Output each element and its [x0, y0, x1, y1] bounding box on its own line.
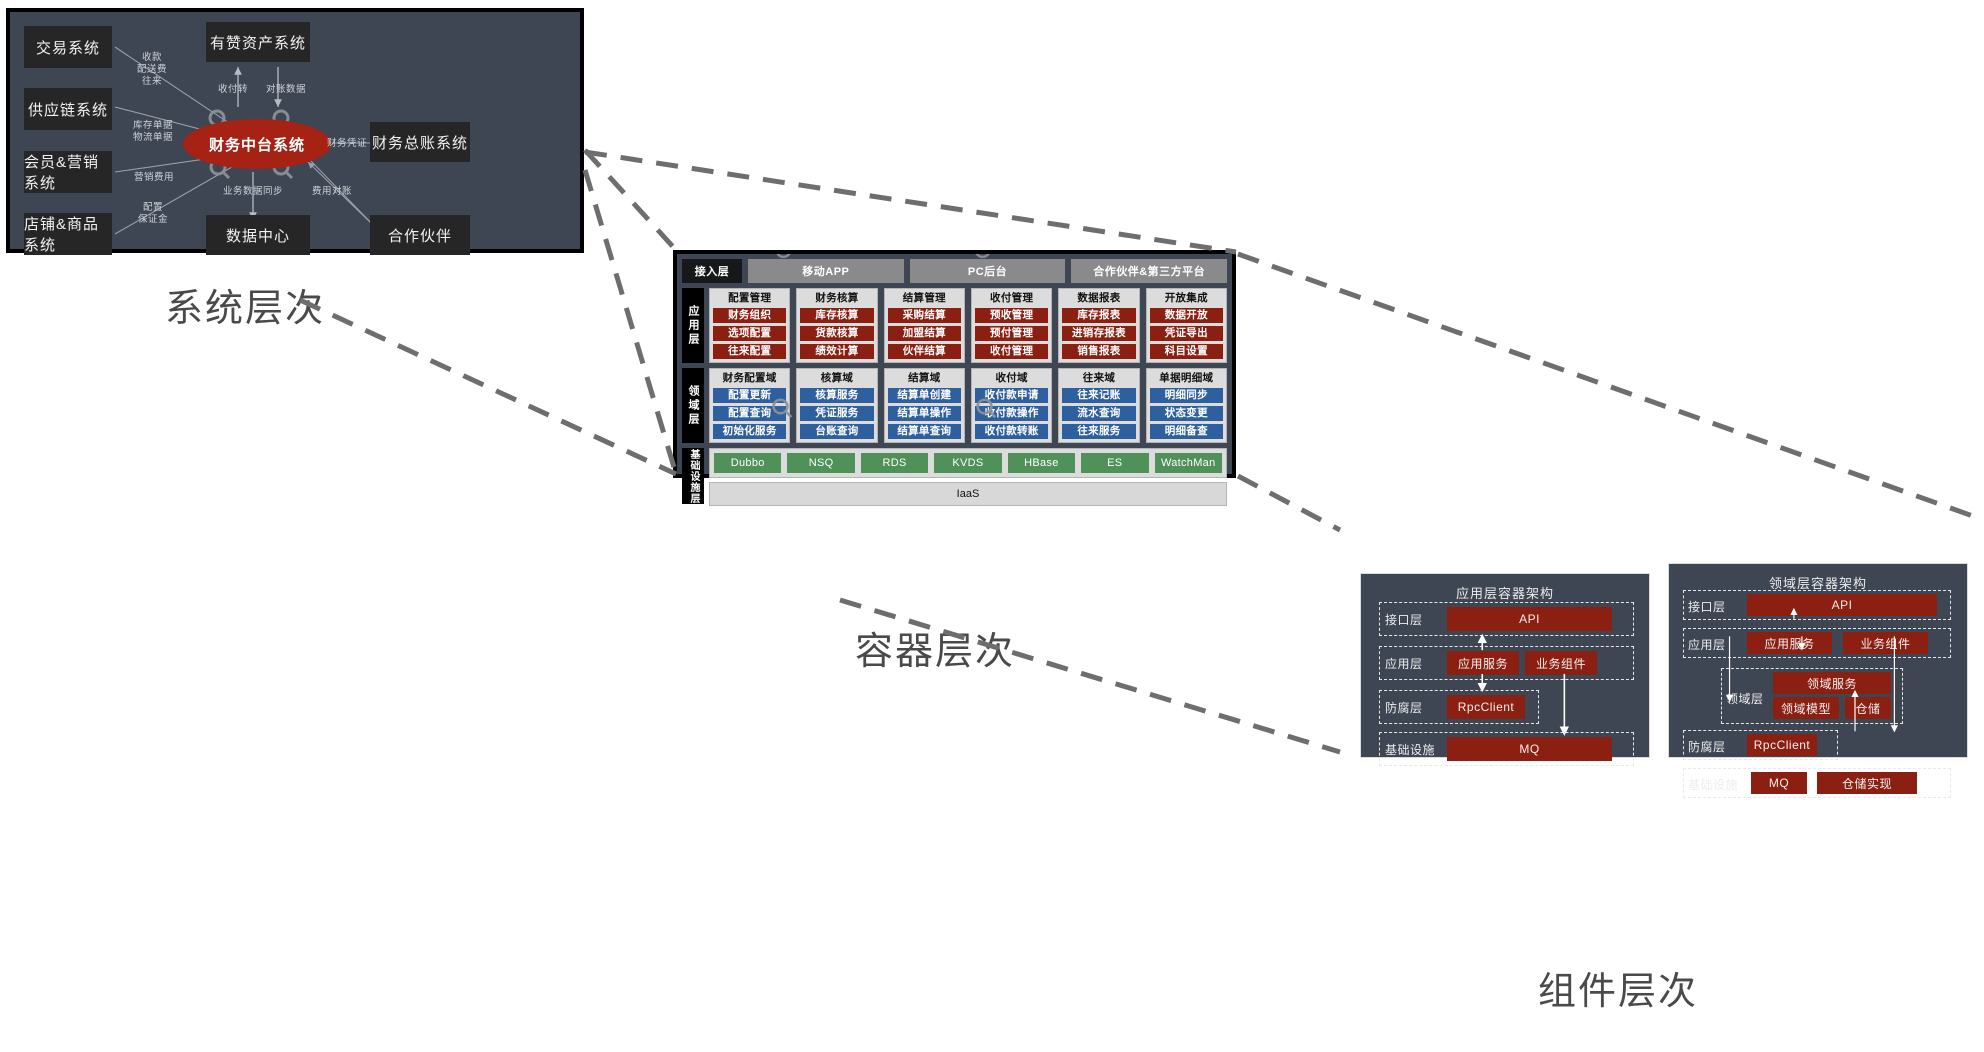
caption-system-level: 系统层次 [165, 277, 325, 332]
chip-item[interactable]: 往来记账 [1062, 388, 1135, 403]
chip-item[interactable]: 库存核算 [800, 308, 873, 323]
chip-item[interactable]: 结算单创建 [888, 388, 961, 403]
edge-label-business-data-sync: 业务数据同步 [213, 186, 293, 198]
chip-item[interactable]: 明细同步 [1150, 388, 1223, 403]
middleware-watchman[interactable]: WatchMan [1155, 453, 1222, 473]
chip-item[interactable]: 往来服务 [1062, 424, 1135, 439]
chip-item[interactable]: 销售报表 [1062, 344, 1135, 359]
chip-item[interactable]: 流水查询 [1062, 406, 1135, 421]
group-finance-config-domain[interactable]: 财务配置域 配置更新 配置查询 初始化服务 [709, 368, 790, 443]
group-title: 结算域 [888, 372, 961, 385]
app-anticorruption-layer-label: 防腐层 [1385, 699, 1423, 716]
access-layer-row: 接入层 移动APP PC后台 合作伙伴&第三方平台 [682, 259, 1227, 283]
middleware-kvds[interactable]: KVDS [934, 453, 1001, 473]
domain-mq-box[interactable]: MQ [1751, 772, 1807, 794]
system-node-partner[interactable]: 合作伙伴 [370, 215, 470, 255]
domain-layer-groups: 财务配置域 配置更新 配置查询 初始化服务 核算域 核算服务 凭证服务 台账查询… [709, 368, 1227, 443]
edge-label-marketing-cost: 营销费用 [119, 172, 189, 184]
system-node-trade[interactable]: 交易系统 [24, 26, 112, 68]
caption-component-level: 组件层次 [1538, 960, 1698, 1015]
app-interface-layer-label: 接口层 [1385, 611, 1423, 628]
group-title: 收付域 [975, 372, 1048, 385]
edge-label-finance-voucher: 财务凭证 [321, 138, 373, 150]
domain-anticorruption-layer-label: 防腐层 [1688, 738, 1726, 755]
domain-repository-box[interactable]: 仓储 [1845, 697, 1891, 719]
system-node-member-marketing[interactable]: 会员&营销系统 [24, 151, 112, 193]
domain-business-component-box[interactable]: 业务组件 [1843, 632, 1928, 654]
domain-infrastructure-layer-label: 基础设施 [1688, 776, 1738, 793]
app-business-component-box[interactable]: 业务组件 [1525, 651, 1597, 675]
group-title: 核算域 [800, 372, 873, 385]
chip-item[interactable]: 台账查询 [800, 424, 873, 439]
group-title: 往来域 [1062, 372, 1135, 385]
app-container-title: 应用层容器架构 [1361, 583, 1649, 602]
chip-item[interactable]: 选项配置 [713, 326, 786, 341]
app-application-layer-label: 应用层 [1385, 655, 1423, 672]
middleware-nsq[interactable]: NSQ [787, 453, 854, 473]
group-settlement-management[interactable]: 结算管理 采购结算 加盟结算 伙伴结算 [884, 288, 965, 363]
domain-model-box[interactable]: 领域模型 [1773, 697, 1839, 719]
chip-item[interactable]: 库存报表 [1062, 308, 1135, 323]
app-application-service-box[interactable]: 应用服务 [1447, 651, 1519, 675]
iaas-band: IaaS [682, 482, 1227, 506]
app-api-box[interactable]: API [1447, 607, 1612, 631]
system-node-youzan-asset[interactable]: 有赞资产系统 [206, 22, 310, 62]
application-layer-band: 应用层 配置管理 财务组织 选项配置 往来配置 财务核算 库存核算 货款核算 绩… [682, 288, 1227, 363]
middleware-rds[interactable]: RDS [861, 453, 928, 473]
system-node-general-ledger[interactable]: 财务总账系统 [370, 122, 470, 162]
system-node-supply-chain[interactable]: 供应链系统 [24, 88, 112, 130]
edge-label-reconcile-data: 对账数据 [258, 84, 314, 96]
app-container-card: 应用层容器架构 接口层 API 应用层 应用服务 业务组件 防腐层 RpcCli… [1360, 573, 1650, 758]
group-receipt-payment-management[interactable]: 收付管理 预收管理 预付管理 收付管理 [971, 288, 1052, 363]
chip-item[interactable]: 收付款转账 [975, 424, 1048, 439]
edge-label-config-deposit: 配置 保证金 [123, 202, 183, 226]
group-title: 数据报表 [1062, 292, 1135, 305]
chip-item[interactable]: 收付管理 [975, 344, 1048, 359]
chip-item[interactable]: 科目设置 [1150, 344, 1223, 359]
access-layer-label: 接入层 [682, 259, 742, 283]
component-level-panel: 应用层容器架构 接口层 API 应用层 应用服务 业务组件 防腐层 RpcCli… [1338, 531, 1984, 758]
domain-interface-layer-label: 接口层 [1688, 598, 1726, 615]
edge-label-receive-pay-transfer: 收付转 [208, 84, 258, 96]
group-config-management[interactable]: 配置管理 财务组织 选项配置 往来配置 [709, 288, 790, 363]
iaas-bar[interactable]: IaaS [709, 482, 1227, 506]
middleware-hbase[interactable]: HBase [1008, 453, 1075, 473]
domain-layer-band: 领域层 财务配置域 配置更新 配置查询 初始化服务 核算域 核算服务 凭证服务 … [682, 368, 1227, 443]
middleware-row: Dubbo NSQ RDS KVDS HBase ES WatchMan [709, 448, 1227, 478]
container-level-panel: 接入层 移动APP PC后台 合作伙伴&第三方平台 应用层 配置管理 财务组织 … [673, 250, 1236, 478]
chip-item[interactable]: 收付款操作 [975, 406, 1048, 421]
middleware-dubbo[interactable]: Dubbo [714, 453, 781, 473]
domain-container-card: 领域层容器架构 接口层 API 应用层 应用服务 业务组件 领域层 领域服务 领… [1668, 563, 1968, 758]
chip-item[interactable]: 结算单操作 [888, 406, 961, 421]
chip-item[interactable]: 凭证导出 [1150, 326, 1223, 341]
domain-core-layer-label: 领域层 [1726, 690, 1764, 707]
chip-item[interactable]: 核算服务 [800, 388, 873, 403]
chip-item[interactable]: 财务组织 [713, 308, 786, 323]
group-title: 配置管理 [713, 292, 786, 305]
edge-label-cost-reconcile: 费用对账 [300, 186, 364, 198]
middleware-es[interactable]: ES [1081, 453, 1148, 473]
system-node-shop-product[interactable]: 店铺&商品系统 [24, 213, 112, 255]
group-financial-accounting[interactable]: 财务核算 库存核算 货款核算 绩效计算 [796, 288, 877, 363]
application-layer-label: 应用层 [682, 288, 704, 363]
access-tab-mobile-app[interactable]: 移动APP [748, 259, 904, 283]
access-tab-partner-thirdparty[interactable]: 合作伙伴&第三方平台 [1071, 259, 1227, 283]
group-title: 财务配置域 [713, 372, 786, 385]
group-title: 财务核算 [800, 292, 873, 305]
group-title: 收付管理 [975, 292, 1048, 305]
chip-item[interactable]: 预收管理 [975, 308, 1048, 323]
group-title: 开放集成 [1150, 292, 1223, 305]
caption-container-level: 容器层次 [855, 620, 1015, 675]
app-rpcclient-box[interactable]: RpcClient [1447, 695, 1525, 719]
system-level-panel: 交易系统 供应链系统 会员&营销系统 店铺&商品系统 有赞资产系统 数据中心 财… [6, 8, 584, 253]
chip-item[interactable]: 数据开放 [1150, 308, 1223, 323]
edge-label-collect-delivery: 收款 配送费 往来 [122, 52, 182, 88]
chip-item[interactable]: 往来配置 [713, 344, 786, 359]
domain-application-layer-label: 应用层 [1688, 636, 1726, 653]
chip-item[interactable]: 加盟结算 [888, 326, 961, 341]
chip-item[interactable]: 绩效计算 [800, 344, 873, 359]
system-node-finance-midplatform[interactable]: 财务中台系统 [183, 119, 331, 169]
domain-application-service-box[interactable]: 应用服务 [1747, 632, 1832, 654]
infrastructure-layer-band: 基础设施层 Dubbo NSQ RDS KVDS HBase ES WatchM… [682, 448, 1227, 478]
chip-item[interactable]: 配置查询 [713, 406, 786, 421]
domain-rpcclient-box[interactable]: RpcClient [1747, 734, 1817, 756]
edge-label-inventory-logistics: 库存单据 物流单据 [113, 120, 193, 144]
chip-item[interactable]: 明细备查 [1150, 424, 1223, 439]
group-document-detail-domain[interactable]: 单据明细域 明细同步 状态变更 明细备查 [1146, 368, 1227, 443]
app-infrastructure-layer-label: 基础设施 [1385, 741, 1435, 758]
access-tab-pc-backend[interactable]: PC后台 [910, 259, 1066, 283]
chip-item[interactable]: 采购结算 [888, 308, 961, 323]
domain-repository-impl-box[interactable]: 仓储实现 [1817, 772, 1917, 794]
chip-item[interactable]: 预付管理 [975, 326, 1048, 341]
domain-service-box[interactable]: 领域服务 [1773, 672, 1891, 694]
group-title: 结算管理 [888, 292, 961, 305]
chip-item[interactable]: 结算单查询 [888, 424, 961, 439]
chip-item[interactable]: 凭证服务 [800, 406, 873, 421]
group-accounting-domain[interactable]: 核算域 核算服务 凭证服务 台账查询 [796, 368, 877, 443]
chip-item[interactable]: 初始化服务 [713, 424, 786, 439]
chip-item[interactable]: 货款核算 [800, 326, 873, 341]
domain-layer-label: 领域层 [682, 368, 704, 443]
application-layer-groups: 配置管理 财务组织 选项配置 往来配置 财务核算 库存核算 货款核算 绩效计算 … [709, 288, 1227, 363]
group-title: 单据明细域 [1150, 372, 1223, 385]
group-open-integration[interactable]: 开放集成 数据开放 凭证导出 科目设置 [1146, 288, 1227, 363]
chip-item[interactable]: 收付款申请 [975, 388, 1048, 403]
chip-item[interactable]: 伙伴结算 [888, 344, 961, 359]
group-current-account-domain[interactable]: 往来域 往来记账 流水查询 往来服务 [1058, 368, 1139, 443]
group-settlement-domain[interactable]: 结算域 结算单创建 结算单操作 结算单查询 [884, 368, 965, 443]
system-node-data-center[interactable]: 数据中心 [206, 215, 310, 255]
group-receipt-payment-domain[interactable]: 收付域 收付款申请 收付款操作 收付款转账 [971, 368, 1052, 443]
chip-item[interactable]: 配置更新 [713, 388, 786, 403]
domain-api-box[interactable]: API [1747, 594, 1937, 616]
app-mq-box[interactable]: MQ [1447, 737, 1612, 761]
chip-item[interactable]: 状态变更 [1150, 406, 1223, 421]
group-data-reports[interactable]: 数据报表 库存报表 进销存报表 销售报表 [1058, 288, 1139, 363]
chip-item[interactable]: 进销存报表 [1062, 326, 1135, 341]
